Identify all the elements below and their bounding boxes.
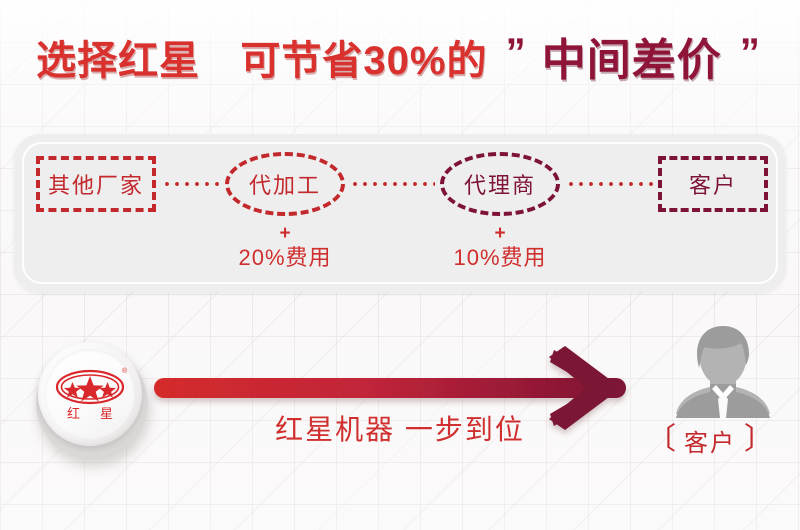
svg-text:红: 红 [67, 406, 80, 421]
svg-text:®: ® [122, 367, 128, 375]
bracket-right-icon: 〕 [744, 425, 774, 455]
flow-node-label: 其他厂家 [48, 168, 144, 200]
flow-node-label: 客户 [689, 168, 737, 200]
flow-node-other-factory: 其他厂家 [36, 156, 156, 212]
flow-node-customer: 客户 [658, 156, 768, 212]
quote-open-mark: ” [500, 22, 530, 84]
customer-label-text: 客户 [684, 423, 736, 458]
fee-markup-oem: + 20%费用 [205, 224, 365, 272]
fee-amount: 10%费用 [420, 244, 580, 272]
bracket-left-icon: 〔 [646, 425, 676, 455]
flow-connector-2 [350, 182, 435, 186]
headline-part-2: 可节省30%的 [240, 30, 487, 92]
customer-label: 〔 客户 〕 [645, 423, 775, 457]
headline: 选择红星 可节省30%的 ” 中间差价 ” [0, 28, 800, 90]
svg-text:星: 星 [100, 406, 113, 421]
hongxing-star-logo-icon: ® 红 星 [45, 349, 135, 439]
flow-connector-3 [566, 182, 654, 186]
fee-plus-sign: + [420, 224, 580, 244]
customer-person-icon [668, 322, 778, 427]
flow-connector-1 [162, 182, 220, 186]
fee-amount: 20%费用 [205, 244, 365, 272]
quote-close-mark: ” [734, 22, 764, 84]
flow-node-label: 代理商 [464, 168, 536, 200]
slogan-text: 红星机器 一步到位 [190, 408, 610, 448]
headline-highlight: 中间差价 [542, 30, 722, 92]
headline-part-1: 选择红星 [36, 30, 200, 92]
fee-markup-agent: + 10%费用 [420, 224, 580, 272]
hongxing-logo-badge: ® 红 星 [32, 338, 152, 458]
flow-node-oem: 代加工 [225, 152, 345, 216]
flow-node-label: 代加工 [249, 168, 321, 200]
flow-node-agent: 代理商 [440, 152, 560, 216]
fee-plus-sign: + [205, 224, 365, 244]
